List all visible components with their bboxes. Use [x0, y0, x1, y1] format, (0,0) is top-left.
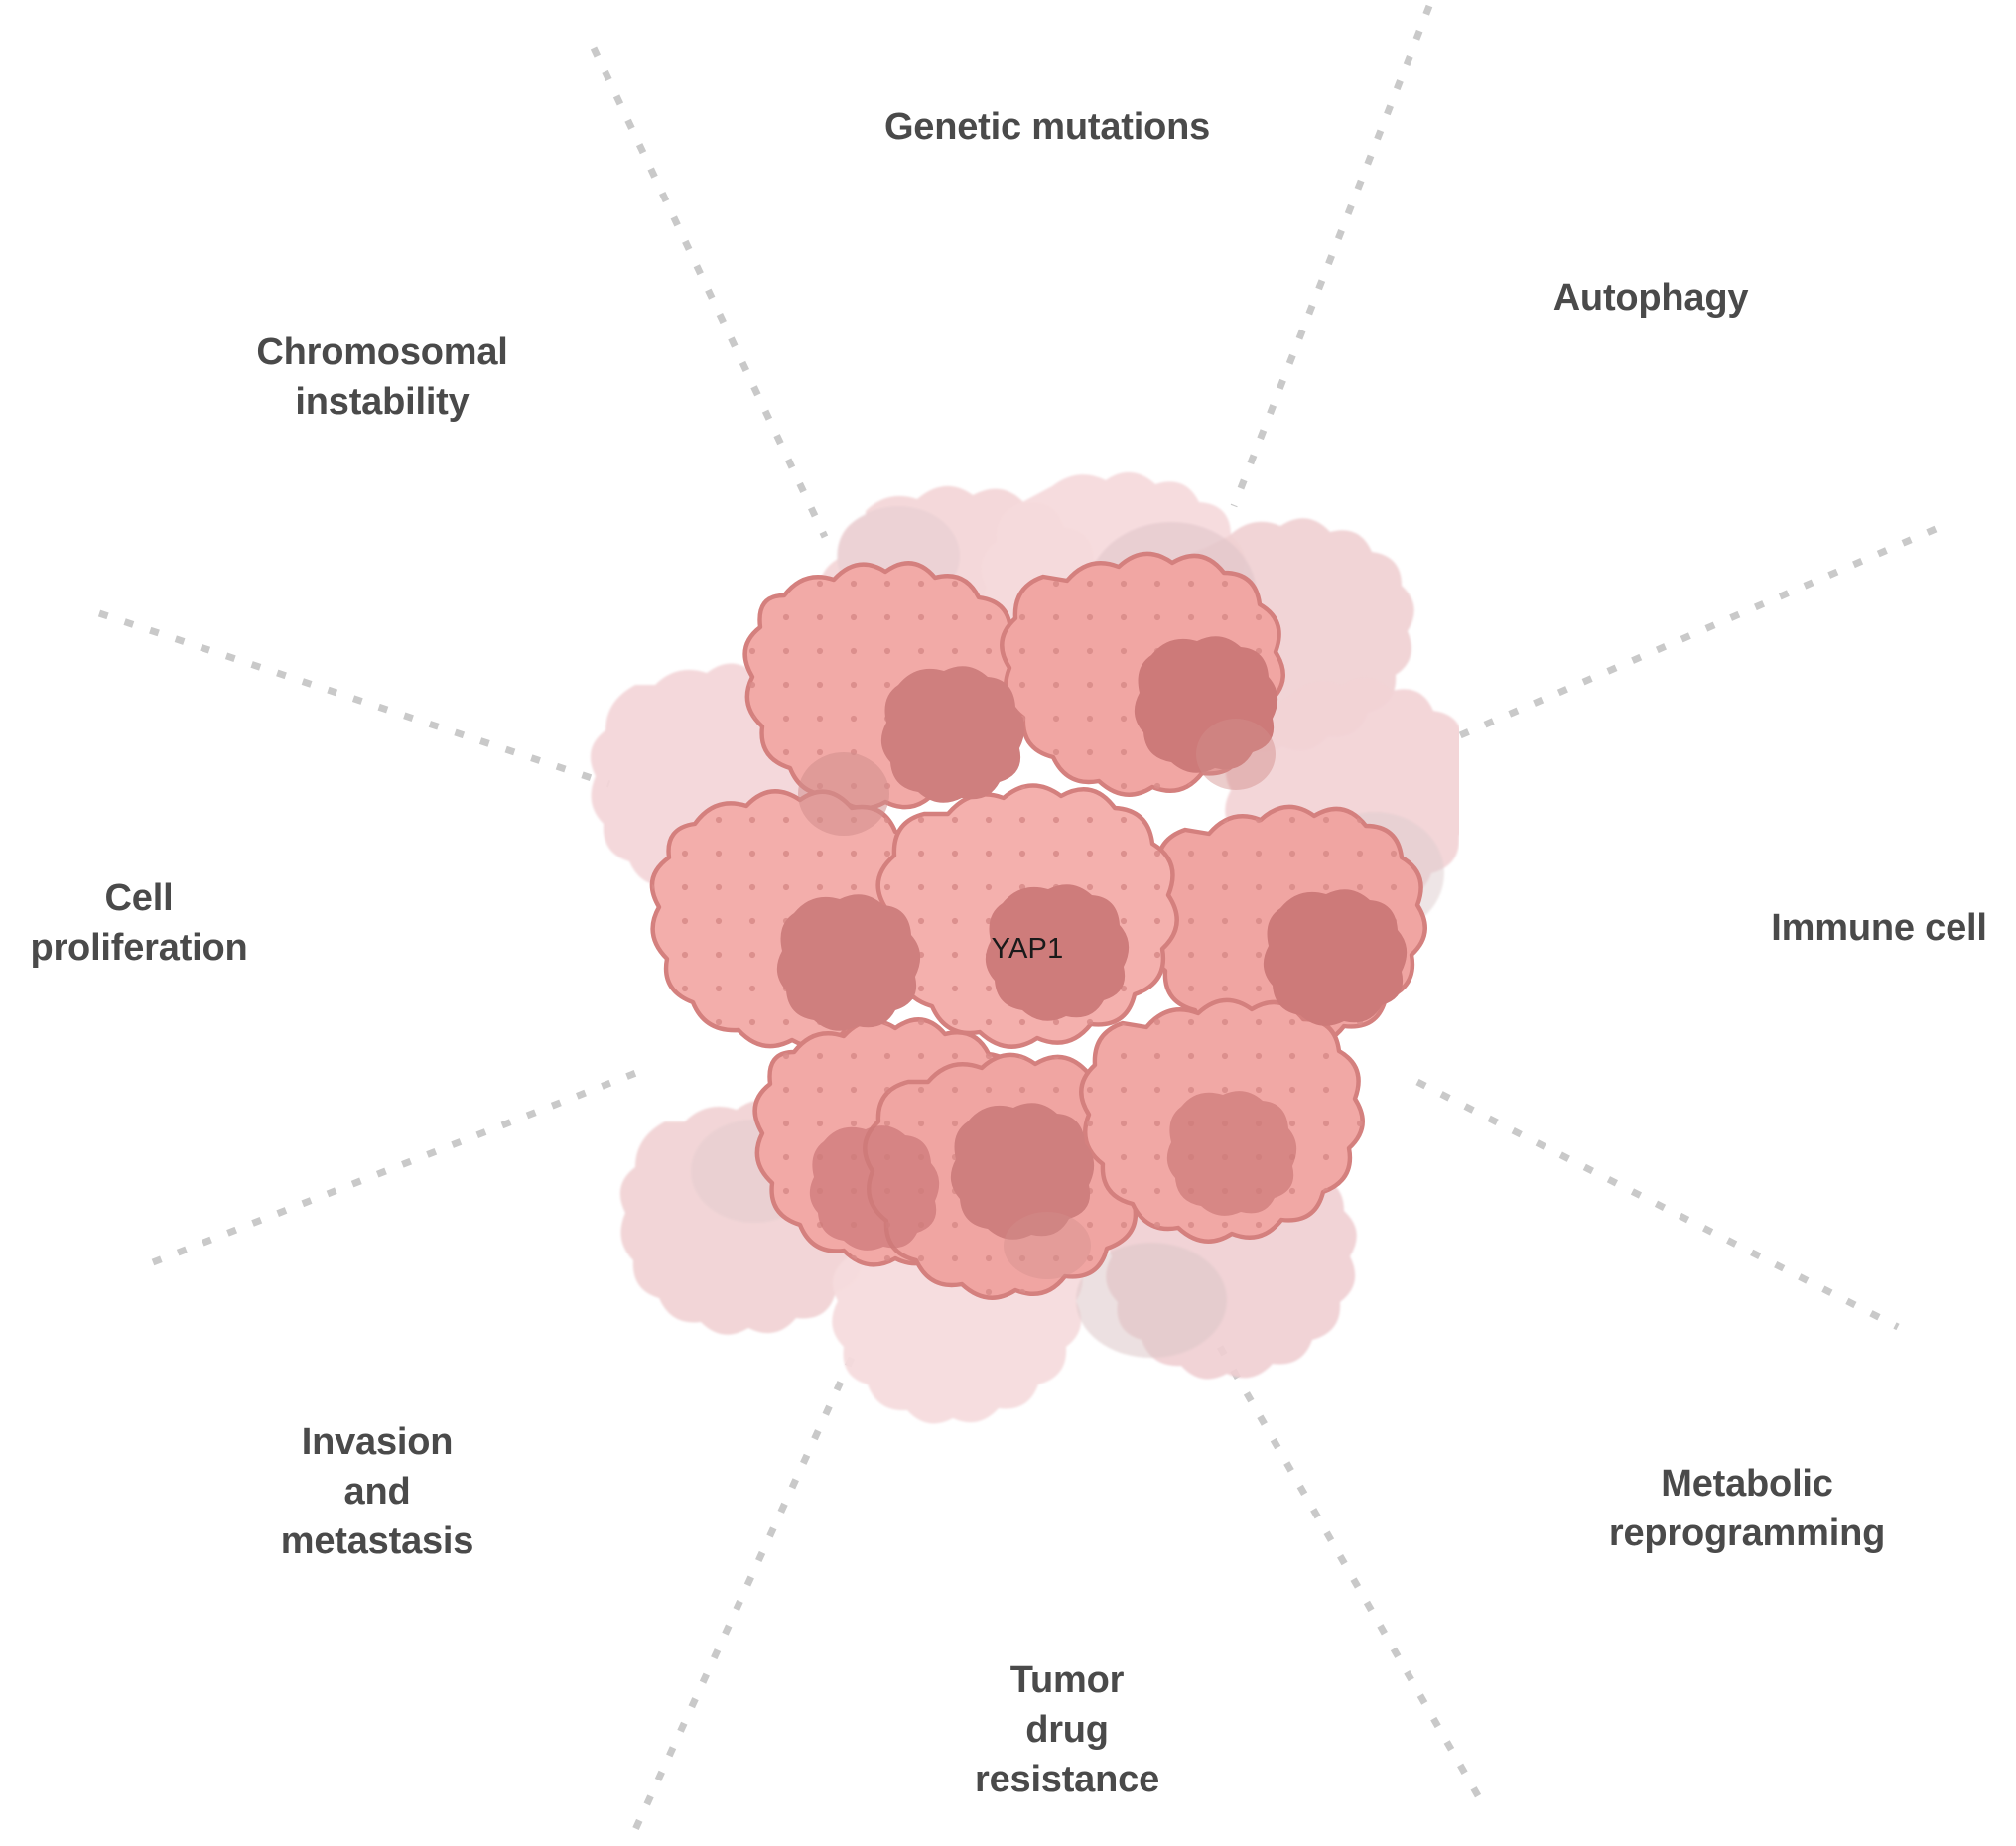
label-cell-proliferation: Cell proliferation [0, 873, 347, 973]
label-immune-cell: Immune cell [1671, 903, 2016, 953]
label-genetic-mutations: Genetic mutations [789, 102, 1305, 152]
yap1-center-label: YAP1 [948, 933, 1107, 966]
label-autophagy: Autophagy [1442, 273, 1859, 323]
figure-canvas: YAP1 Genetic mutationsAutophagyImmune ce… [0, 0, 2016, 1846]
label-tumor-drug-resistance: Tumor drug resistance [859, 1655, 1276, 1804]
label-invasion-and-metastasis: Invasion and metastasis [169, 1417, 586, 1566]
label-chromosomal-instability: Chromosomal instability [154, 328, 610, 427]
label-metabolic-reprogramming: Metabolic reprogramming [1489, 1459, 2005, 1558]
